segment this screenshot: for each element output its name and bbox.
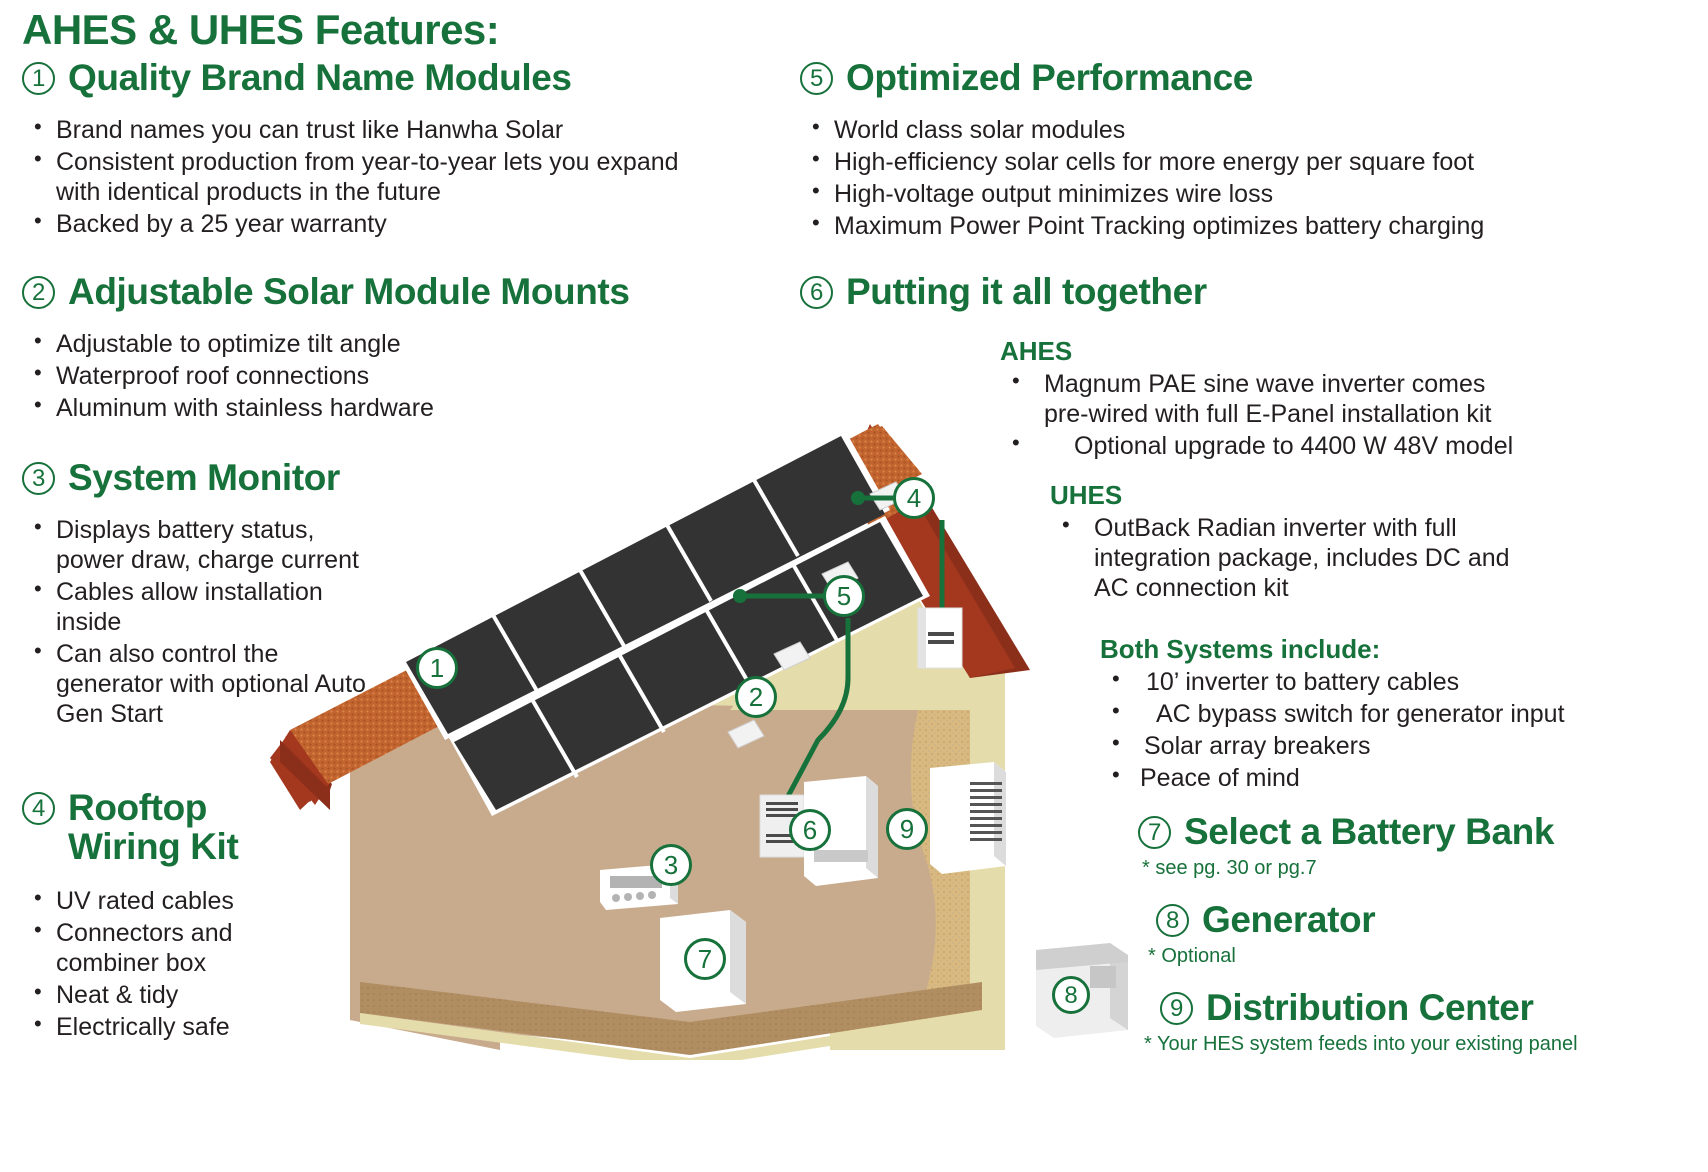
section-optimized-performance: 5 Optimized Performance World class sola… <box>800 58 1560 243</box>
list-item: Maximum Power Point Tracking optimizes b… <box>800 211 1560 241</box>
section-9-title: Distribution Center <box>1206 988 1533 1027</box>
page-title: AHES & UHES Features: <box>22 6 722 54</box>
ahes-label: AHES <box>1000 336 1540 367</box>
section-1-number-icon: 1 <box>22 62 55 95</box>
list-item: Solar array breakers <box>1100 731 1660 761</box>
section-7-note: * see pg. 30 or pg.7 <box>1142 857 1698 880</box>
section-6-heading: 6 Putting it all together <box>800 272 1360 311</box>
section-5-number-icon: 5 <box>800 62 833 95</box>
callout-badge-3[interactable]: 3 <box>650 844 692 886</box>
list-item: High-voltage output minimizes wire loss <box>800 179 1560 209</box>
both-systems-label: Both Systems include: <box>1100 634 1660 665</box>
list-item: Backed by a 25 year warranty <box>22 209 782 239</box>
list-item: Peace of mind <box>1100 763 1660 793</box>
section-select-a-battery-bank: 7 Select a Battery Bank * see pg. 30 or … <box>1138 812 1698 880</box>
list-item: Brand names you can trust like Hanwha So… <box>22 115 782 145</box>
section-8-note: * Optional <box>1148 945 1598 968</box>
callout-badge-7[interactable]: 7 <box>684 938 726 980</box>
section-4-title: Rooftop Wiring Kit <box>68 788 298 866</box>
section-6-number-icon: 6 <box>800 276 833 309</box>
section-8-title: Generator <box>1202 900 1375 939</box>
distribution-center-panel <box>930 762 1006 874</box>
callout-badge-2[interactable]: 2 <box>735 676 777 718</box>
list-item: Waterproof roof connections <box>22 361 722 391</box>
list-item: World class solar modules <box>800 115 1560 145</box>
section-7-heading: 7 Select a Battery Bank <box>1138 812 1698 851</box>
section-putting-it-all-together: 6 Putting it all together <box>800 272 1360 311</box>
section-2-title: Adjustable Solar Module Mounts <box>68 272 630 311</box>
both-systems-group: Both Systems include: 10’ inverter to ba… <box>1100 634 1660 795</box>
section-7-title: Select a Battery Bank <box>1184 812 1554 851</box>
section-generator: 8 Generator * Optional <box>1138 900 1598 968</box>
list-item: Adjustable to optimize tilt angle <box>22 329 722 359</box>
section-1-title: Quality Brand Name Modules <box>68 58 572 97</box>
both-systems-bullets: 10’ inverter to battery cables AC bypass… <box>1100 667 1660 793</box>
section-2-heading: 2 Adjustable Solar Module Mounts <box>22 272 722 311</box>
section-9-note: * Your HES system feeds into your existi… <box>1144 1033 1708 1056</box>
rooftop-wiring-combiner-box <box>918 608 962 668</box>
section-5-heading: 5 Optimized Performance <box>800 58 1560 97</box>
section-distribution-center: 9 Distribution Center * Your HES system … <box>1138 988 1708 1056</box>
section-1-heading: 1 Quality Brand Name Modules <box>22 58 782 97</box>
section-quality-brand-name-modules: 1 Quality Brand Name Modules Brand names… <box>22 58 782 241</box>
section-2-number-icon: 2 <box>22 276 55 309</box>
list-item: Consistent production from year-to-year … <box>22 147 722 207</box>
list-item: 10’ inverter to battery cables <box>1100 667 1660 697</box>
section-6-title: Putting it all together <box>846 272 1207 311</box>
section-adjustable-solar-module-mounts: 2 Adjustable Solar Module Mounts Adjusta… <box>22 272 722 425</box>
section-3-number-icon: 3 <box>22 462 55 495</box>
page-title-text: AHES & UHES Features: <box>22 6 722 54</box>
section-5-title: Optimized Performance <box>846 58 1253 97</box>
callout-badge-6[interactable]: 6 <box>789 809 831 851</box>
callout-badge-9[interactable]: 9 <box>886 808 928 850</box>
callout-badge-4[interactable]: 4 <box>893 477 935 519</box>
section-9-heading: 9 Distribution Center <box>1160 988 1708 1027</box>
section-8-heading: 8 Generator <box>1156 900 1598 939</box>
callout-badge-8[interactable]: 8 <box>1052 976 1090 1014</box>
section-5-bullets: World class solar modules High-efficienc… <box>800 115 1560 241</box>
callout-badge-1[interactable]: 1 <box>416 647 458 689</box>
callout-badge-5[interactable]: 5 <box>823 575 865 617</box>
list-item: AC bypass switch for generator input <box>1100 699 1660 729</box>
section-4-number-icon: 4 <box>22 792 55 825</box>
list-item: High-efficiency solar cells for more ene… <box>800 147 1560 177</box>
section-1-bullets: Brand names you can trust like Hanwha So… <box>22 115 782 239</box>
